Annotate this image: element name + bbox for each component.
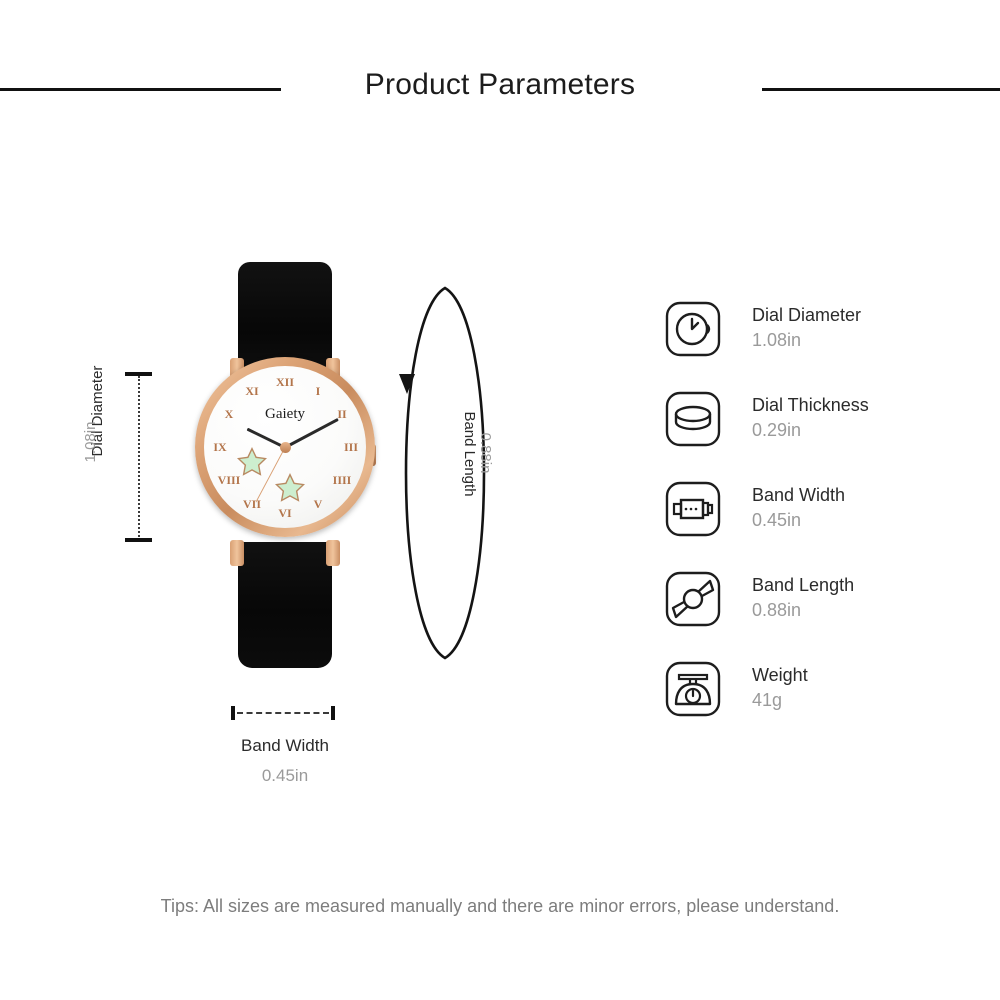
dimension-dashed-line [237, 712, 329, 714]
watch-strap-bottom [238, 542, 332, 668]
dial-numeral: VI [272, 507, 298, 519]
disc-thickness-icon [664, 390, 722, 448]
spec-value: 0.88in [752, 597, 854, 623]
watch-lug-bottom-right [326, 540, 340, 566]
page-title: Product Parameters [0, 62, 1000, 108]
watch-strap-icon [664, 570, 722, 628]
band-length-dimension: Band Length 0.88in [385, 278, 505, 668]
watch-product-image: Gaiety XII I II III IIII V VI VII VIII I… [180, 252, 390, 672]
spec-value: 1.08in [752, 327, 861, 353]
watch-dial: Gaiety XII I II III IIII V VI VII VIII I… [204, 366, 366, 528]
dial-numeral: IX [207, 441, 233, 453]
dimension-cap-bottom [125, 538, 152, 542]
spec-value: 0.29in [752, 417, 869, 443]
spec-row-band-width: Band Width 0.45in [664, 480, 984, 570]
spec-label: Band Length [752, 573, 854, 597]
spec-value: 0.45in [752, 507, 845, 533]
dimension-cap-right [331, 706, 335, 720]
dial-numeral: XI [239, 385, 265, 397]
dial-numeral: III [338, 441, 364, 453]
watch-lug-bottom-left [230, 540, 244, 566]
strap-buckle-icon [664, 480, 722, 538]
spec-label: Weight [752, 663, 808, 687]
spec-label: Dial Thickness [752, 393, 869, 417]
spec-label: Band Width [752, 483, 845, 507]
specification-list: Dial Diameter 1.08in Dial Thickness 0.29… [664, 300, 984, 750]
dial-numeral: VII [239, 498, 265, 510]
dial-diameter-dimension-value: 1.08in [82, 422, 99, 463]
watch-center-pin [280, 442, 291, 453]
spec-row-dial-thickness: Dial Thickness 0.29in [664, 390, 984, 480]
dial-numeral: XII [272, 376, 298, 388]
dimension-cap-left [231, 706, 235, 720]
band-length-dimension-value: 0.88in [477, 433, 494, 474]
dimension-dotted-line [138, 376, 140, 540]
dial-numeral: I [305, 385, 331, 397]
watch-case: Gaiety XII I II III IIII V VI VII VIII I… [195, 357, 375, 537]
band-width-dimension-label: Band Width [185, 736, 385, 756]
band-width-dimension: Band Width 0.45in [185, 698, 385, 798]
page-header: Product Parameters [0, 62, 1000, 118]
weight-scale-icon [664, 660, 722, 718]
spec-label: Dial Diameter [752, 303, 861, 327]
dial-numeral: IIII [329, 474, 355, 486]
dial-numeral: V [305, 498, 331, 510]
dial-diameter-dimension: Dial Diameter 1.08in [60, 370, 170, 550]
spec-value: 41g [752, 687, 808, 713]
spec-row-band-length: Band Length 0.88in [664, 570, 984, 660]
spec-row-dial-diameter: Dial Diameter 1.08in [664, 300, 984, 390]
dial-numeral: X [216, 408, 242, 420]
watch-dial-icon [664, 300, 722, 358]
spec-row-weight: Weight 41g [664, 660, 984, 750]
dial-numeral: II [329, 408, 355, 420]
footer-tip-text: Tips: All sizes are measured manually an… [0, 896, 1000, 917]
band-width-dimension-value: 0.45in [185, 766, 385, 786]
